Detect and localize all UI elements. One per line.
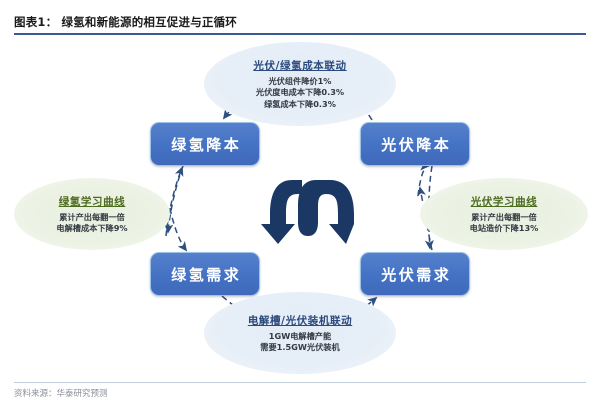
annotation-gh-learning-curve-line-1: 累计产出每翻一倍 xyxy=(59,212,125,223)
arrow-bubble-left-down-to-ghdemand xyxy=(170,208,186,250)
annotation-pv-learning-curve-line-1: 累计产出每翻一倍 xyxy=(471,212,537,223)
annotation-pv-learning-curve-heading: 光伏学习曲线 xyxy=(471,194,538,209)
annotation-pv-learning-curve-line-2: 电站造价下降13% xyxy=(470,223,539,234)
footer-divider xyxy=(14,382,586,383)
annotation-electrolyzer-linkage-line-1: 1GW电解槽产能 xyxy=(269,331,331,342)
cycle-arrows-icon xyxy=(258,174,354,256)
annotation-cost-linkage-line-1: 光伏组件降价1% xyxy=(268,76,331,87)
annotation-gh-learning-curve-line-2: 电解槽成本下降9% xyxy=(56,223,127,234)
annotation-electrolyzer-pv-capacity-linkage: 电解槽/光伏装机联动 1GW电解槽产能 需要1.5GW光伏装机 xyxy=(204,292,396,374)
figure-page: 图表1： 绿氢和新能源的相互促进与正循环 xyxy=(0,0,600,407)
page-title: 图表1： 绿氢和新能源的相互促进与正循环 xyxy=(14,14,237,30)
diagram-canvas: 绿氢降本 光伏降本 绿氢需求 光伏需求 光伏/绿氢成本联动 光伏组件降价1% 光… xyxy=(0,36,600,376)
arrow-bubble-right-to-pvcost xyxy=(418,166,428,196)
annotation-cost-linkage-heading: 光伏/绿氢成本联动 xyxy=(253,58,346,73)
annotation-green-hydrogen-learning-curve: 绿氢学习曲线 累计产出每翻一倍 电解槽成本下降9% xyxy=(14,178,170,250)
source-note: 资料来源：华泰研究预测 xyxy=(14,387,108,399)
node-green-hydrogen-demand[interactable]: 绿氢需求 xyxy=(150,252,260,296)
annotation-electrolyzer-linkage-heading: 电解槽/光伏装机联动 xyxy=(248,313,352,328)
annotation-gh-learning-curve-heading: 绿氢学习曲线 xyxy=(59,194,126,209)
annotation-pv-learning-curve: 光伏学习曲线 累计产出每翻一倍 电站造价下降13% xyxy=(420,178,588,250)
annotation-cost-linkage: 光伏/绿氢成本联动 光伏组件降价1% 光伏度电成本下降0.3% 绿氢成本下降0.… xyxy=(204,42,396,126)
annotation-cost-linkage-line-3: 绿氢成本下降0.3% xyxy=(264,99,336,110)
node-pv-cost-reduction[interactable]: 光伏降本 xyxy=(360,122,470,166)
annotation-electrolyzer-linkage-line-2: 需要1.5GW光伏装机 xyxy=(260,342,339,353)
node-pv-demand[interactable]: 光伏需求 xyxy=(360,252,470,296)
node-green-hydrogen-cost-reduction[interactable]: 绿氢降本 xyxy=(150,122,260,166)
arrow-ghcost-to-bubble-left xyxy=(168,166,183,232)
annotation-cost-linkage-line-2: 光伏度电成本下降0.3% xyxy=(256,87,344,98)
title-divider xyxy=(14,33,586,35)
